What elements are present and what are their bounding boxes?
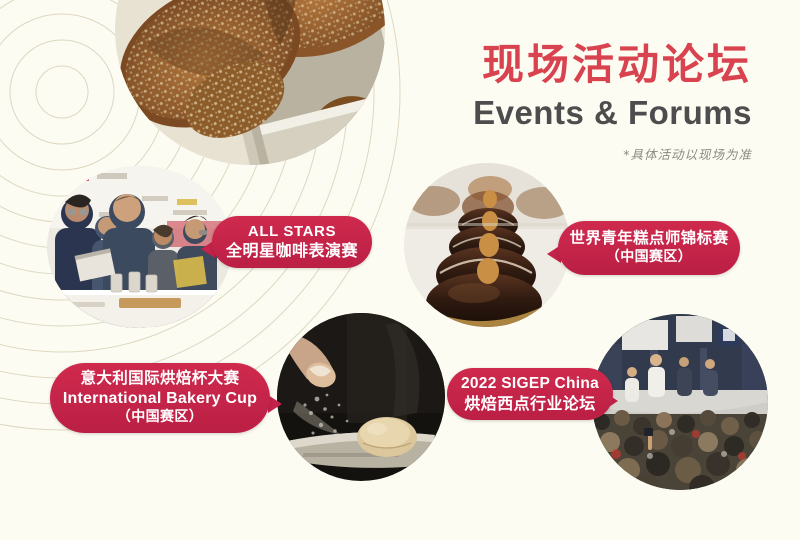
chocolate-pastry-photo — [404, 163, 570, 327]
event-label-line: 全明星咖啡表演赛 — [226, 241, 358, 261]
event-label-international-bakery-cup[interactable]: 意大利国际烘焙杯大赛 International Bakery Cup （中国赛… — [50, 363, 270, 433]
title-chinese: 现场活动论坛 — [473, 42, 752, 88]
event-label-line: ALL STARS — [248, 222, 336, 241]
event-label-line: 烘焙西点行业论坛 — [464, 394, 595, 414]
bread-photo — [115, 0, 385, 165]
label-pointer-international-bakery-cup — [268, 395, 282, 413]
page-title: 现场活动论坛 Events & Forums *具体活动以现场为准 — [473, 42, 752, 163]
event-label-line: （中国赛区） — [606, 249, 692, 267]
event-label-line: International Bakery Cup — [63, 389, 257, 409]
event-label-line: （中国赛区） — [117, 409, 203, 427]
event-label-line: 2022 SIGEP China — [461, 374, 599, 394]
event-label-sigep-china-forum[interactable]: 2022 SIGEP China 烘焙西点行业论坛 — [447, 368, 613, 420]
event-label-line: 意大利国际烘焙杯大赛 — [80, 369, 239, 389]
title-disclaimer: *具体活动以现场为准 — [473, 144, 752, 163]
event-label-line: 世界青年糕点师锦标赛 — [569, 229, 728, 249]
audience-forum-photo — [592, 314, 768, 490]
title-english: Events & Forums — [473, 92, 752, 133]
event-label-all-stars[interactable]: ALL STARS 全明星咖啡表演赛 — [212, 216, 372, 268]
poster-canvas: 现场活动论坛 Events & Forums *具体活动以现场为准 ALL ST… — [0, 0, 800, 540]
baker-dough-photo — [277, 313, 445, 481]
event-label-world-youth-pastry[interactable]: 世界青年糕点师锦标赛 （中国赛区） — [558, 221, 740, 275]
